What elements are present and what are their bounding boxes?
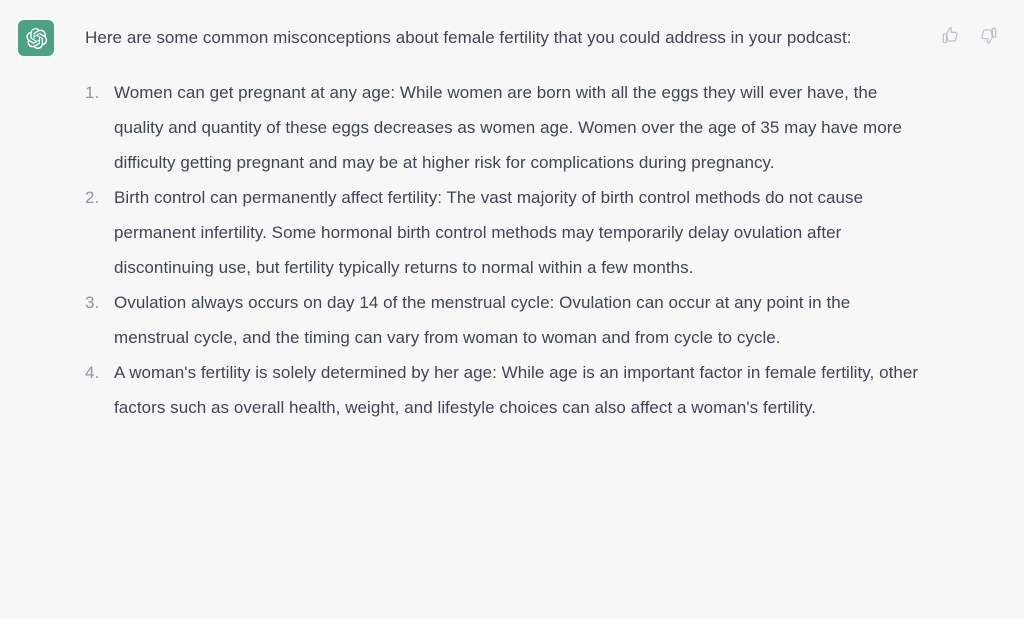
assistant-message: Here are some common misconceptions abou… xyxy=(0,0,1024,619)
list-item: Birth control can permanently affect fer… xyxy=(85,180,923,285)
openai-logo-icon xyxy=(25,27,48,50)
list-item: Ovulation always occurs on day 14 of the… xyxy=(85,285,923,355)
feedback-actions xyxy=(939,24,999,46)
thumbs-up-icon xyxy=(941,26,960,45)
intro-paragraph: Here are some common misconceptions abou… xyxy=(85,20,921,55)
assistant-avatar xyxy=(18,20,54,56)
thumbs-down-button[interactable] xyxy=(977,24,999,46)
message-content: Here are some common misconceptions abou… xyxy=(85,20,923,425)
misconception-list: Women can get pregnant at any age: While… xyxy=(85,75,923,425)
list-item: Women can get pregnant at any age: While… xyxy=(85,75,923,180)
thumbs-up-button[interactable] xyxy=(939,24,961,46)
list-item: A woman's fertility is solely determined… xyxy=(85,355,923,425)
thumbs-down-icon xyxy=(979,26,998,45)
